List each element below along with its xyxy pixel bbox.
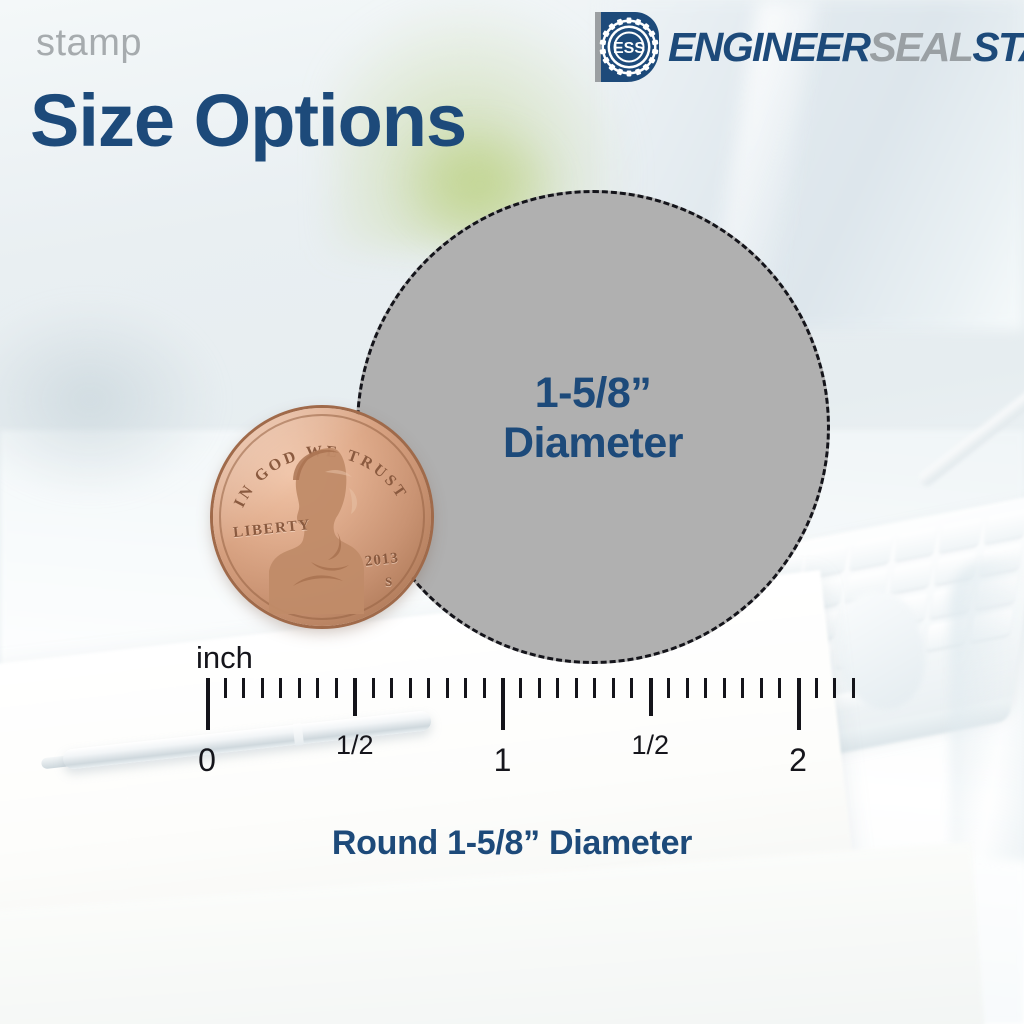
ruler-tick-minor xyxy=(704,678,707,698)
ruler-tick-half xyxy=(649,678,653,716)
ruler-tick-minor xyxy=(483,678,486,698)
ruler-tick-minor xyxy=(686,678,689,698)
ruler-label: 1 xyxy=(494,742,512,779)
ruler-label: 1/2 xyxy=(631,730,669,761)
ruler-tick-minor xyxy=(833,678,836,698)
ruler-tick-minor xyxy=(815,678,818,698)
ruler-tick-minor xyxy=(519,678,522,698)
ruler-tick-minor xyxy=(760,678,763,698)
ruler-tick-minor xyxy=(464,678,467,698)
ruler-tick-minor xyxy=(446,678,449,698)
ruler-tick-minor xyxy=(556,678,559,698)
ruler-tick-minor xyxy=(778,678,781,698)
ruler-tick-minor xyxy=(390,678,393,698)
ruler-tick-minor xyxy=(372,678,375,698)
ruler-tick-major xyxy=(206,678,210,730)
ruler-label: 1/2 xyxy=(336,730,374,761)
ruler-tick-minor xyxy=(409,678,412,698)
ruler-label: 0 xyxy=(198,742,216,779)
ruler-tick-minor xyxy=(723,678,726,698)
ruler-tick-minor xyxy=(630,678,633,698)
ruler-tick-minor xyxy=(427,678,430,698)
ruler-tick-minor xyxy=(593,678,596,698)
ruler-tick-major xyxy=(501,678,505,730)
ruler-tick-minor xyxy=(741,678,744,698)
ruler-tick-minor xyxy=(852,678,855,698)
ruler-tick-half xyxy=(353,678,357,716)
ruler-tick-major xyxy=(797,678,801,730)
ruler-tick-minor xyxy=(538,678,541,698)
ruler-tick-minor xyxy=(279,678,282,698)
ruler-tick-minor xyxy=(667,678,670,698)
ruler-label: 2 xyxy=(789,742,807,779)
ruler-tick-minor xyxy=(224,678,227,698)
size-caption: Round 1-5/8” Diameter xyxy=(0,824,1024,863)
stamp-size-options-graphic: stamp Size Options xyxy=(0,0,1024,1024)
ruler-tick-minor xyxy=(335,678,338,698)
ruler-tick-minor xyxy=(575,678,578,698)
inch-ruler: inch 01/211/22 xyxy=(0,0,1024,1024)
ruler-tick-minor xyxy=(298,678,301,698)
ruler-tick-minor xyxy=(261,678,264,698)
ruler-tick-minor xyxy=(242,678,245,698)
ruler-tick-minor xyxy=(316,678,319,698)
ruler-unit-label: inch xyxy=(196,640,253,676)
ruler-tick-minor xyxy=(612,678,615,698)
